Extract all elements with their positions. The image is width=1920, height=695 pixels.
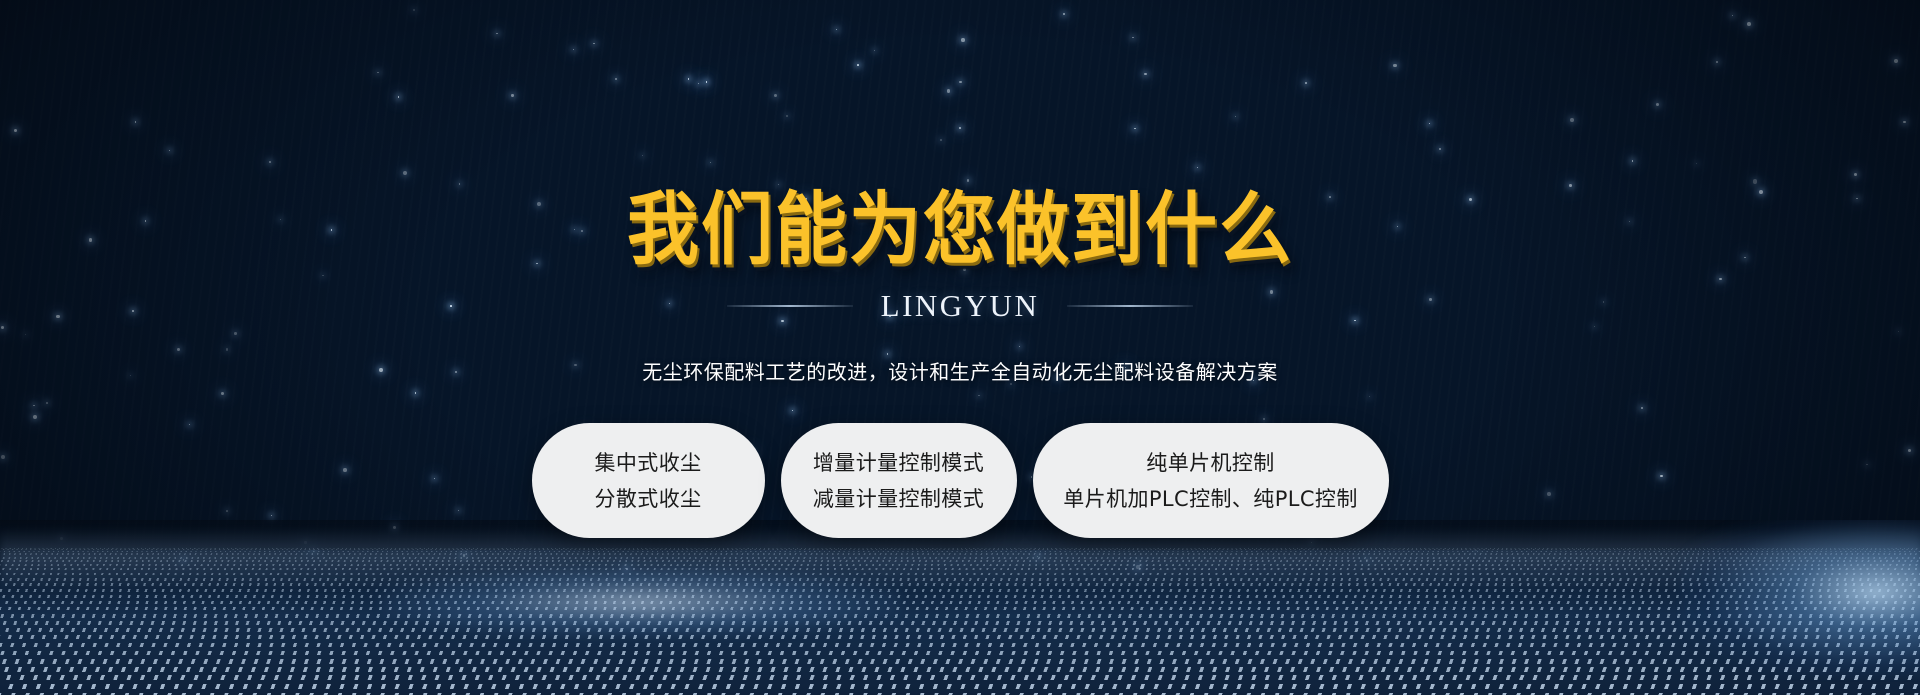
feature-card-list: 集中式收尘 分散式收尘 增量计量控制模式 减量计量控制模式 纯单片机控制 单片机… xyxy=(532,423,1389,538)
feature-card-metering-mode[interactable]: 增量计量控制模式 减量计量控制模式 xyxy=(781,423,1017,538)
divider-left xyxy=(727,305,853,307)
feature-card-control-system[interactable]: 纯单片机控制 单片机加PLC控制、纯PLC控制 xyxy=(1033,423,1389,538)
feature-card-dust-collection[interactable]: 集中式收尘 分散式收尘 xyxy=(532,423,765,538)
divider-right xyxy=(1067,305,1193,307)
feature-card-line-2: 减量计量控制模式 xyxy=(813,487,984,511)
banner-description: 无尘环保配料工艺的改进，设计和生产全自动化无尘配料设备解决方案 xyxy=(642,356,1278,385)
banner-content: 我们能为您做到什么 LINGYUN 无尘环保配料工艺的改进，设计和生产全自动化无… xyxy=(0,0,1920,695)
brand-row: LINGYUN xyxy=(727,288,1194,324)
feature-card-line-2: 分散式收尘 xyxy=(595,487,702,511)
hero-banner: 我们能为您做到什么 LINGYUN 无尘环保配料工艺的改进，设计和生产全自动化无… xyxy=(0,0,1920,695)
feature-card-line-1: 增量计量控制模式 xyxy=(813,451,984,475)
feature-card-line-2: 单片机加PLC控制、纯PLC控制 xyxy=(1063,487,1357,511)
feature-card-line-1: 集中式收尘 xyxy=(595,451,702,475)
page-title: 我们能为您做到什么 xyxy=(627,186,1293,272)
feature-card-line-1: 纯单片机控制 xyxy=(1146,451,1274,475)
brand-name: LINGYUN xyxy=(881,288,1040,324)
